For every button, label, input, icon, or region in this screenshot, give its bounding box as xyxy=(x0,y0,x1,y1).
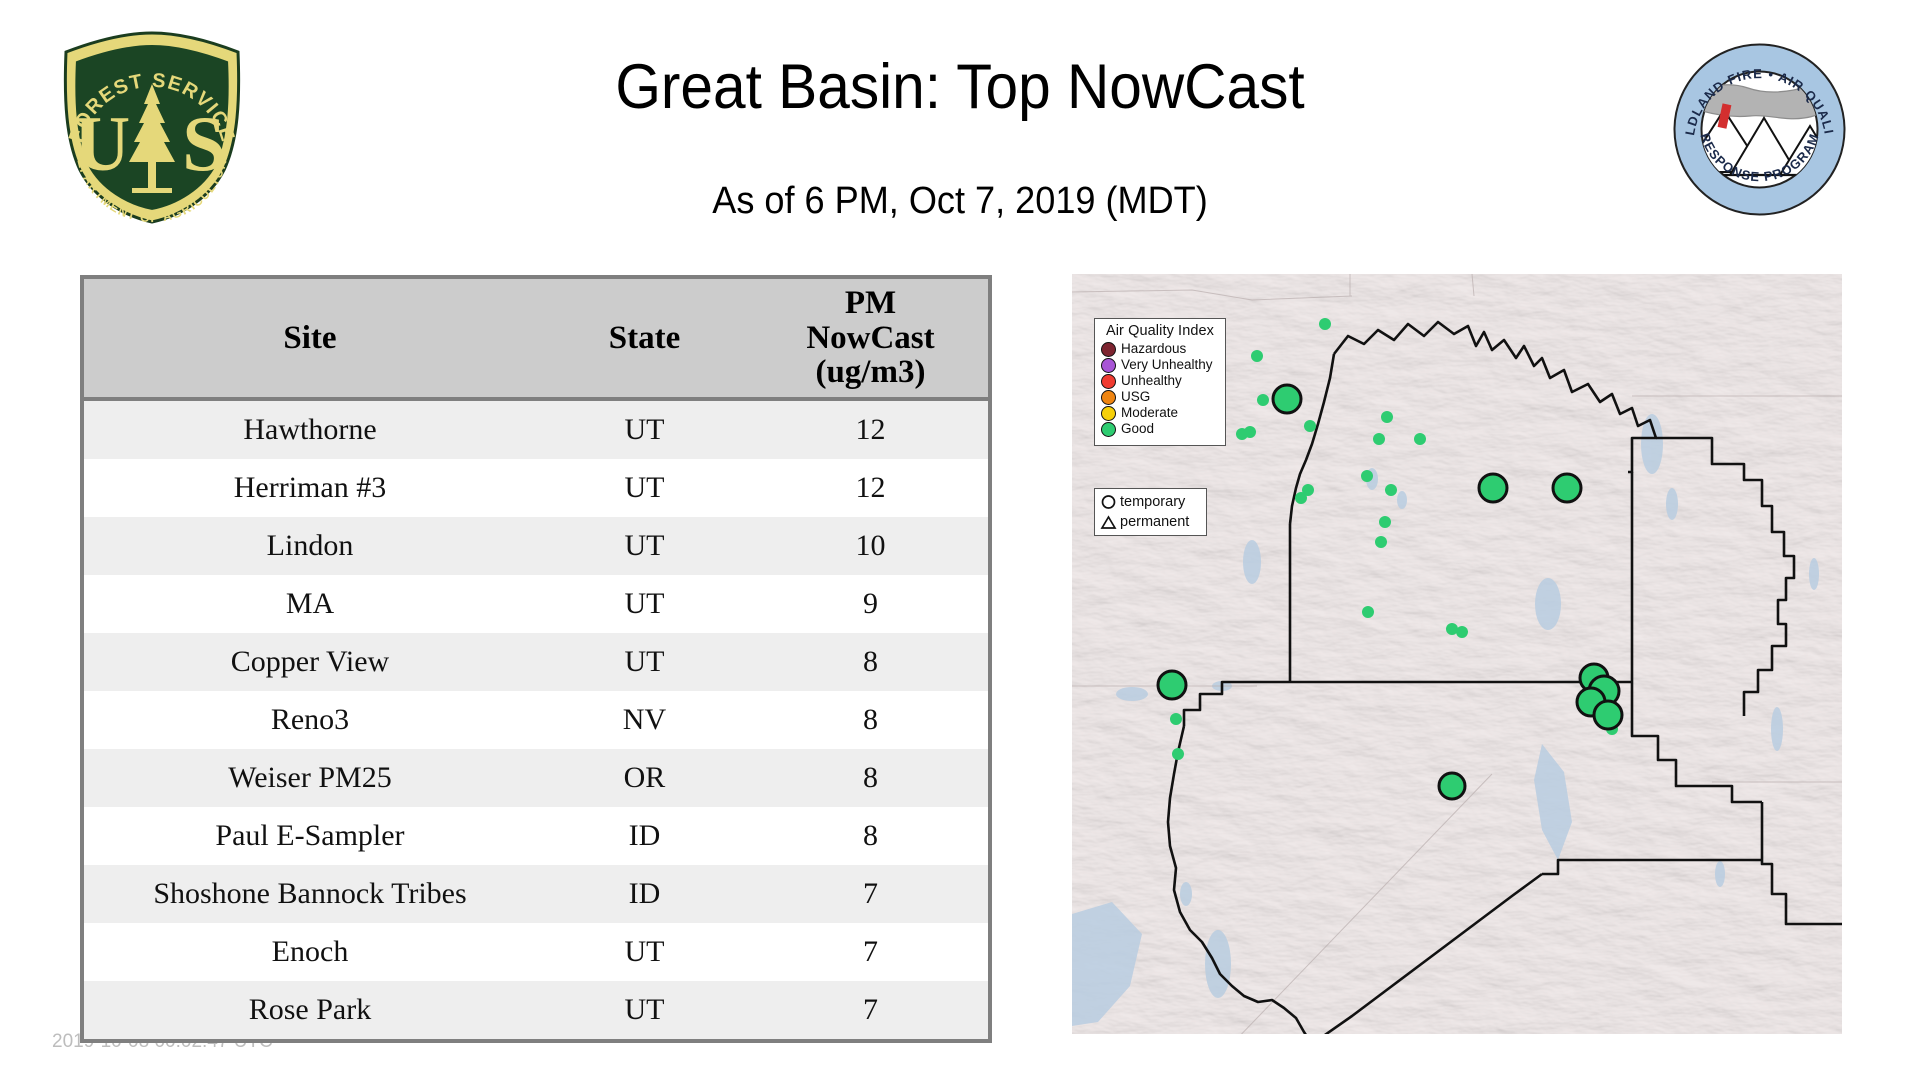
table-row: Reno3NV8 xyxy=(84,691,988,749)
monitor-marker-large[interactable] xyxy=(1553,474,1581,502)
cell-state: ID xyxy=(536,807,753,865)
monitor-marker-small[interactable] xyxy=(1304,420,1316,432)
legend-label-temporary: temporary xyxy=(1120,495,1185,510)
legend-item-very-unhealthy: Very Unhealthy xyxy=(1101,357,1219,373)
legend-label: USG xyxy=(1121,390,1150,404)
monitor-marker-large[interactable] xyxy=(1158,671,1186,699)
legend-swatch-icon xyxy=(1101,342,1116,357)
column-header-pm-line3: (ug/m3) xyxy=(753,355,988,390)
monitor-marker-small[interactable] xyxy=(1375,536,1387,548)
cell-site: Shoshone Bannock Tribes xyxy=(84,865,536,923)
cell-site: Copper View xyxy=(84,633,536,691)
table-row: EnochUT7 xyxy=(84,923,988,981)
table-row: MAUT9 xyxy=(84,575,988,633)
monitor-marker-large[interactable] xyxy=(1273,385,1301,413)
cell-state: NV xyxy=(536,691,753,749)
cell-pm-nowcast: 12 xyxy=(753,399,988,459)
monitor-marker-small[interactable] xyxy=(1361,470,1373,482)
monitor-marker-small[interactable] xyxy=(1257,394,1269,406)
cell-state: ID xyxy=(536,865,753,923)
monitor-marker-small[interactable] xyxy=(1251,350,1263,362)
cell-pm-nowcast: 8 xyxy=(753,807,988,865)
page-subtitle: As of 6 PM, Oct 7, 2019 (MDT) xyxy=(48,182,1872,220)
monitor-marker-small[interactable] xyxy=(1172,748,1184,760)
table-header-row: Site State PM NowCast (ug/m3) xyxy=(84,279,988,399)
legend-swatch-icon xyxy=(1101,390,1116,405)
legend-swatch-icon xyxy=(1101,406,1116,421)
legend-label: Very Unhealthy xyxy=(1121,358,1213,372)
monitor-marker-small[interactable] xyxy=(1295,492,1307,504)
legend-item-usg: USG xyxy=(1101,389,1219,405)
cell-state: UT xyxy=(536,633,753,691)
cell-pm-nowcast: 10 xyxy=(753,517,988,575)
cell-pm-nowcast: 7 xyxy=(753,923,988,981)
cell-site: Herriman #3 xyxy=(84,459,536,517)
cell-pm-nowcast: 8 xyxy=(753,749,988,807)
circle-icon xyxy=(1100,494,1117,511)
legend-item-good: Good xyxy=(1101,421,1219,437)
legend-item-unhealthy: Unhealthy xyxy=(1101,373,1219,389)
table-row: Herriman #3UT12 xyxy=(84,459,988,517)
column-header-site: Site xyxy=(84,279,536,399)
page-title: Great Basin: Top NowCast xyxy=(67,56,1853,119)
monitor-marker-small[interactable] xyxy=(1379,516,1391,528)
cell-site: Paul E-Sampler xyxy=(84,807,536,865)
cell-state: UT xyxy=(536,517,753,575)
monitor-marker-small[interactable] xyxy=(1381,411,1393,423)
column-header-pm-line2: NowCast xyxy=(753,321,988,356)
cell-pm-nowcast: 8 xyxy=(753,691,988,749)
table-row: Paul E-SamplerID8 xyxy=(84,807,988,865)
column-header-pm-nowcast: PM NowCast (ug/m3) xyxy=(753,279,988,399)
cell-site: Weiser PM25 xyxy=(84,749,536,807)
cell-pm-nowcast: 7 xyxy=(753,981,988,1039)
monitor-marker-small[interactable] xyxy=(1414,433,1426,445)
legend-label: Hazardous xyxy=(1121,342,1186,356)
cell-state: UT xyxy=(536,923,753,981)
cell-state: UT xyxy=(536,399,753,459)
table-row: HawthorneUT12 xyxy=(84,399,988,459)
legend-air-quality-index: Air Quality Index HazardousVery Unhealth… xyxy=(1094,318,1226,446)
column-header-state: State xyxy=(536,279,753,399)
cell-site: MA xyxy=(84,575,536,633)
monitor-marker-small[interactable] xyxy=(1319,318,1331,330)
legend-monitor-type: temporary permanent xyxy=(1094,488,1207,536)
cell-pm-nowcast: 9 xyxy=(753,575,988,633)
legend-label: Moderate xyxy=(1121,406,1178,420)
legend-item-moderate: Moderate xyxy=(1101,405,1219,421)
cell-site: Hawthorne xyxy=(84,399,536,459)
monitor-marker-large[interactable] xyxy=(1594,701,1622,729)
cell-state: UT xyxy=(536,459,753,517)
cell-state: OR xyxy=(536,749,753,807)
table-row: Shoshone Bannock TribesID7 xyxy=(84,865,988,923)
table-row: LindonUT10 xyxy=(84,517,988,575)
monitor-marker-large[interactable] xyxy=(1479,474,1507,502)
monitor-marker-small[interactable] xyxy=(1244,426,1256,438)
table-row: Weiser PM25OR8 xyxy=(84,749,988,807)
monitor-marker-large[interactable] xyxy=(1439,773,1465,799)
top-nowcast-table: Site State PM NowCast (ug/m3) HawthorneU… xyxy=(80,275,992,1043)
cell-state: UT xyxy=(536,981,753,1039)
cell-pm-nowcast: 8 xyxy=(753,633,988,691)
cell-pm-nowcast: 12 xyxy=(753,459,988,517)
monitor-marker-small[interactable] xyxy=(1385,484,1397,496)
legend-label: Unhealthy xyxy=(1121,374,1182,388)
legend-swatch-icon xyxy=(1101,358,1116,373)
monitor-marker-small[interactable] xyxy=(1362,606,1374,618)
legend-item-hazardous: Hazardous xyxy=(1101,341,1219,357)
table-row: Copper ViewUT8 xyxy=(84,633,988,691)
legend-swatch-icon xyxy=(1101,374,1116,389)
legend-swatch-icon xyxy=(1101,422,1116,437)
triangle-icon xyxy=(1100,514,1117,531)
legend-title: Air Quality Index xyxy=(1101,323,1219,339)
cell-site: Lindon xyxy=(84,517,536,575)
column-header-pm-line1: PM xyxy=(753,286,988,321)
cell-state: UT xyxy=(536,575,753,633)
cell-site: Enoch xyxy=(84,923,536,981)
legend-item-temporary: temporary xyxy=(1100,492,1201,512)
legend-label: Good xyxy=(1121,422,1154,436)
cell-site: Rose Park xyxy=(84,981,536,1039)
cell-site: Reno3 xyxy=(84,691,536,749)
table-row: Rose ParkUT7 xyxy=(84,981,988,1039)
monitor-marker-small[interactable] xyxy=(1456,626,1468,638)
legend-item-permanent: permanent xyxy=(1100,512,1201,532)
cell-pm-nowcast: 7 xyxy=(753,865,988,923)
monitor-marker-small[interactable] xyxy=(1170,713,1182,725)
legend-label-permanent: permanent xyxy=(1120,515,1189,530)
monitor-marker-small[interactable] xyxy=(1373,433,1385,445)
